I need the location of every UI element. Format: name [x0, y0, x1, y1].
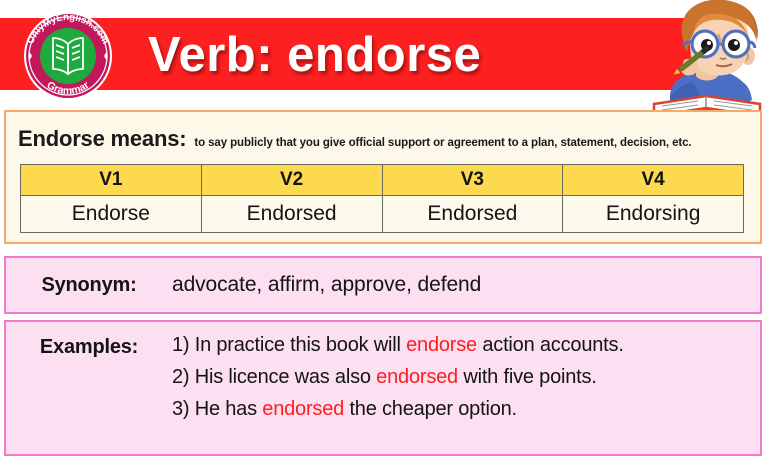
definition-row: Endorse means: to say publicly that you …: [18, 126, 750, 152]
verb-forms-table: V1 V2 V3 V4 Endorse Endorsed Endorsed En…: [20, 164, 744, 233]
example-3-highlight: endorsed: [262, 398, 344, 420]
column-header-v3: V3: [382, 165, 563, 196]
examples-list: 1) In practice this book will endorse ac…: [172, 322, 760, 454]
list-item: 2) His licence was also endorsed with fi…: [172, 366, 760, 389]
verb-form-v2: Endorsed: [201, 196, 382, 233]
example-2-prefix: 2) His licence was also: [172, 366, 376, 388]
student-illustration: [648, 0, 768, 118]
example-3-suffix: the cheaper option.: [344, 398, 517, 420]
definition-text: to say publicly that you give official s…: [194, 137, 691, 149]
column-header-v2: V2: [201, 165, 382, 196]
site-logo[interactable]: OnlyMyEnglish.com Grammar: [16, 6, 120, 106]
definition-panel: Endorse means: to say publicly that you …: [4, 110, 762, 244]
header: Verb: endorse: [0, 0, 768, 108]
verb-flashcard-page: Verb: endorse: [0, 0, 768, 461]
synonym-value-cell: advocate, affirm, approve, defend: [172, 258, 760, 312]
example-1-prefix: 1) In practice this book will: [172, 334, 406, 356]
list-item: 1) In practice this book will endorse ac…: [172, 334, 760, 357]
definition-label: Endorse means:: [18, 126, 186, 152]
synonym-label-cell: Synonym:: [6, 258, 172, 312]
verb-form-v4: Endorsing: [563, 196, 744, 233]
list-item: 3) He has endorsed the cheaper option.: [172, 398, 760, 421]
examples-label-cell: Examples:: [6, 322, 172, 454]
example-1-highlight: endorse: [406, 334, 477, 356]
examples-section: Examples: 1) In practice this book will …: [4, 320, 762, 456]
synonym-label: Synonym:: [41, 274, 136, 297]
synonym-list: advocate, affirm, approve, defend: [172, 273, 760, 297]
example-2-suffix: with five points.: [458, 366, 597, 388]
synonym-section: Synonym: advocate, affirm, approve, defe…: [4, 256, 762, 314]
column-header-v1: V1: [21, 165, 202, 196]
table-row: Endorse Endorsed Endorsed Endorsing: [21, 196, 744, 233]
verb-form-v3: Endorsed: [382, 196, 563, 233]
column-header-v4: V4: [563, 165, 744, 196]
example-3-prefix: 3) He has: [172, 398, 262, 420]
verb-form-v1: Endorse: [21, 196, 202, 233]
page-title: Verb: endorse: [148, 22, 648, 88]
example-2-highlight: endorsed: [376, 366, 458, 388]
example-1-suffix: action accounts.: [477, 334, 624, 356]
table-header-row: V1 V2 V3 V4: [21, 165, 744, 196]
examples-label: Examples:: [40, 336, 138, 359]
